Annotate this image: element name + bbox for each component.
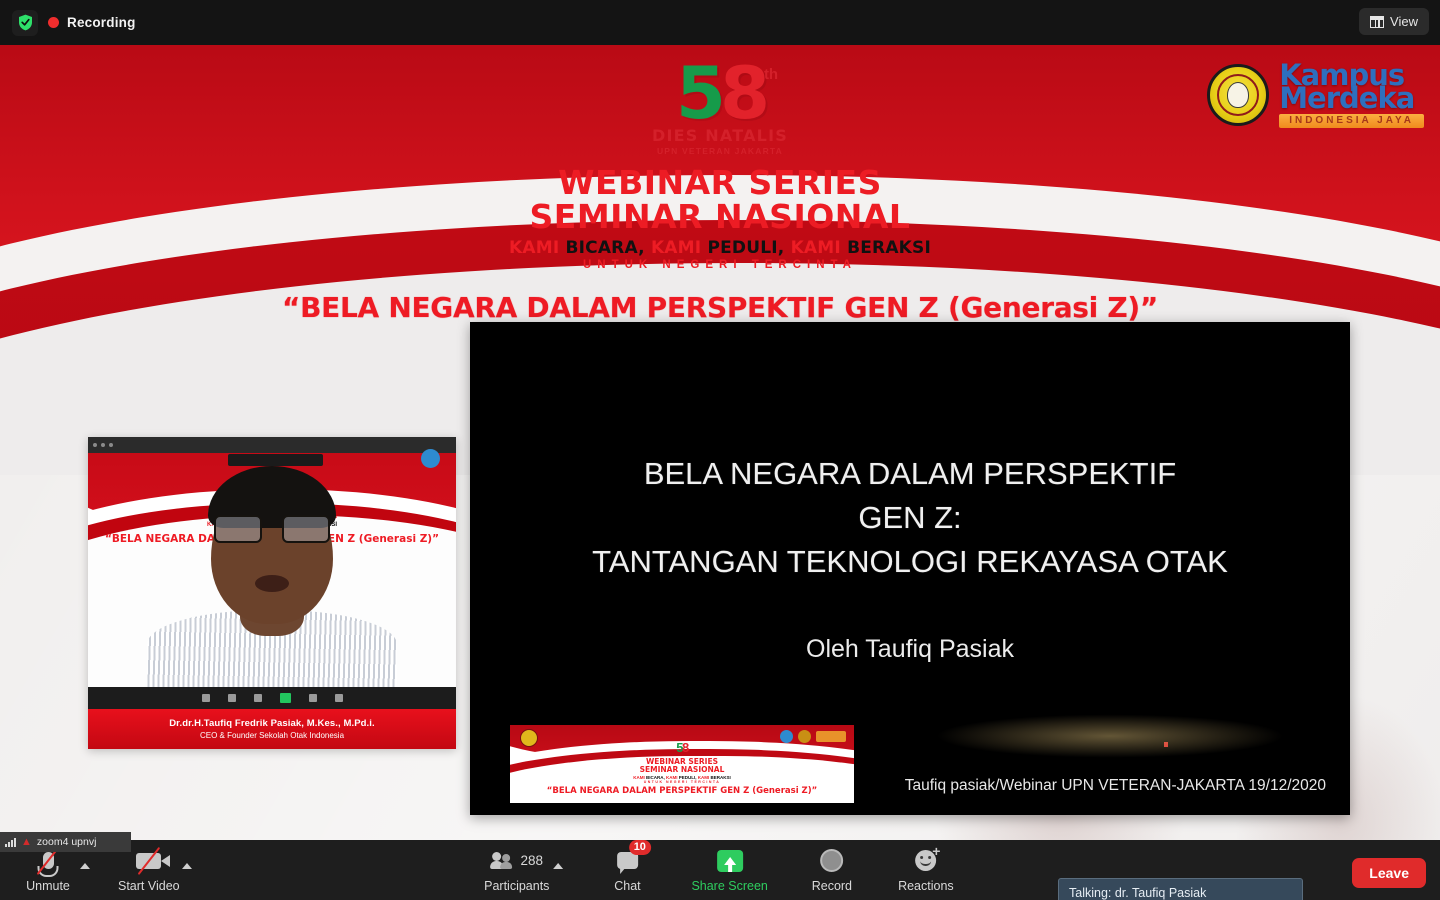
video-options-chevron-up-icon[interactable] [182, 863, 192, 869]
slide-glow [870, 701, 1350, 771]
slide-title-line2: GEN Z: [470, 496, 1350, 540]
signal-bars-icon [5, 838, 16, 847]
camera-off-icon [136, 848, 161, 874]
thumb-badge-icon [421, 449, 440, 468]
event-tagline: KAMI BICARA, KAMI PEDULI, KAMI BERAKSI [0, 238, 1440, 258]
presentation-slide[interactable]: BELA NEGARA DALAM PERSPEKTIF GEN Z: TANT… [470, 322, 1350, 815]
chat-button[interactable]: 10 Chat [597, 842, 657, 898]
kampus-merdeka-logo: Kampus Merdeka INDONESIA JAYA [1207, 62, 1424, 128]
kampus-merdeka-ribbon: INDONESIA JAYA [1279, 114, 1424, 127]
audio-options-chevron-up-icon[interactable] [80, 863, 90, 869]
anniversary-number: 58 [676, 60, 764, 126]
banner-tagline-sub: UNTUK NEGERI TERCINTA [510, 780, 854, 784]
thumb-window-chrome [88, 437, 456, 453]
taskbar-app-item[interactable]: ▲ zoom4 upnvj [0, 832, 131, 852]
participants-icon [491, 852, 517, 869]
chat-label: Chat [614, 879, 640, 893]
shared-screen-stage[interactable]: 58 th DIES NATALIS UPN VETERAN JAKARTA W… [0, 45, 1440, 840]
banner-webinar-line2: SEMINAR NASIONAL [510, 766, 854, 774]
speaker-person [147, 496, 397, 696]
start-video-label: Start Video [118, 879, 180, 893]
thumb-url-box [228, 454, 323, 466]
record-label: Record [812, 879, 852, 893]
institution-label: UPN VETERAN JAKARTA [0, 146, 1440, 156]
view-button[interactable]: View [1359, 8, 1429, 35]
recording-label: Recording [67, 15, 136, 30]
banner-anniversary-number: 58 [510, 741, 854, 754]
reactions-smiley-icon: + [915, 850, 936, 871]
anniversary-suffix: th [764, 66, 778, 83]
thumb-inner-toolbar [88, 687, 456, 709]
slide-banner: 58 WEBINAR SERIES SEMINAR NASIONAL KAMI … [510, 725, 854, 803]
shield-check-icon[interactable] [12, 10, 38, 36]
reactions-label: Reactions [898, 879, 954, 893]
participants-chevron-up-icon[interactable] [553, 863, 563, 869]
recording-dot-icon [48, 17, 59, 28]
speaker-name: Dr.dr.H.Taufiq Fredrik Pasiak, M.Kes., M… [169, 718, 375, 729]
grid-view-icon [1370, 16, 1384, 28]
event-title: “BELA NEGARA DALAM PERSPEKTIF GEN Z (Gen… [0, 291, 1440, 324]
anniversary-logo: 58 th [676, 60, 764, 126]
kampus-merdeka-line2: Merdeka [1279, 85, 1424, 112]
reactions-button[interactable]: + Reactions [896, 842, 956, 898]
share-screen-icon [717, 850, 743, 872]
slide-title-line1: BELA NEGARA DALAM PERSPEKTIF [470, 452, 1350, 496]
leave-button[interactable]: Leave [1352, 858, 1426, 888]
participants-label: Participants [484, 879, 549, 893]
webinar-series-line: WEBINAR SERIES [0, 166, 1440, 200]
slide-author: Oleh Taufiq Pasiak [470, 635, 1350, 664]
recording-topbar: Recording View [0, 0, 1440, 45]
toolbar-center-group: 288 Participants 10 Chat [484, 842, 956, 898]
unmute-label: Unmute [26, 879, 70, 893]
seminar-nasional-line: SEMINAR NASIONAL [0, 200, 1440, 234]
slide-title-line3: TANTANGAN TEKNOLOGI REKAYASA OTAK [470, 540, 1350, 584]
participants-count: 288 [521, 853, 544, 868]
banner-event-title: “BELA NEGARA DALAM PERSPEKTIF GEN Z (Gen… [510, 786, 854, 796]
participants-button[interactable]: 288 Participants [484, 842, 549, 898]
upn-seal-icon [1207, 64, 1269, 126]
record-button[interactable]: Record [802, 842, 862, 898]
speaker-nameplate: Dr.dr.H.Taufiq Fredrik Pasiak, M.Kes., M… [88, 709, 456, 749]
zoom-tray-icon: ▲ [21, 836, 32, 848]
share-screen-button[interactable]: Share Screen [691, 842, 767, 898]
recording-indicator: Recording [48, 15, 136, 30]
speaker-video-thumbnail[interactable]: 58 WEBINAR SERIES SEMINAR NASIONAL KAMI … [88, 437, 456, 749]
zoom-meeting-window: Recording View 58 th DIES NATALIS UPN VE… [0, 0, 1440, 900]
chat-bubble-icon [617, 852, 638, 869]
taskbar-app-label: zoom4 upnvj [37, 836, 97, 848]
slide-title: BELA NEGARA DALAM PERSPEKTIF GEN Z: TANT… [470, 452, 1350, 584]
speaker-role: CEO & Founder Sekolah Otak Indonesia [200, 731, 344, 740]
slide-footer: Taufiq pasiak/Webinar UPN VETERAN-JAKART… [905, 777, 1326, 795]
view-button-label: View [1390, 14, 1418, 29]
record-circle-icon [820, 849, 843, 872]
glasses-icon [214, 514, 330, 544]
chat-unread-badge: 10 [629, 840, 651, 855]
share-screen-label: Share Screen [691, 879, 767, 893]
event-tagline-sub: UNTUK NEGERI TERCINTA [0, 259, 1440, 271]
talking-indicator-popup: Talking: dr. Taufiq Pasiak [1058, 878, 1303, 900]
